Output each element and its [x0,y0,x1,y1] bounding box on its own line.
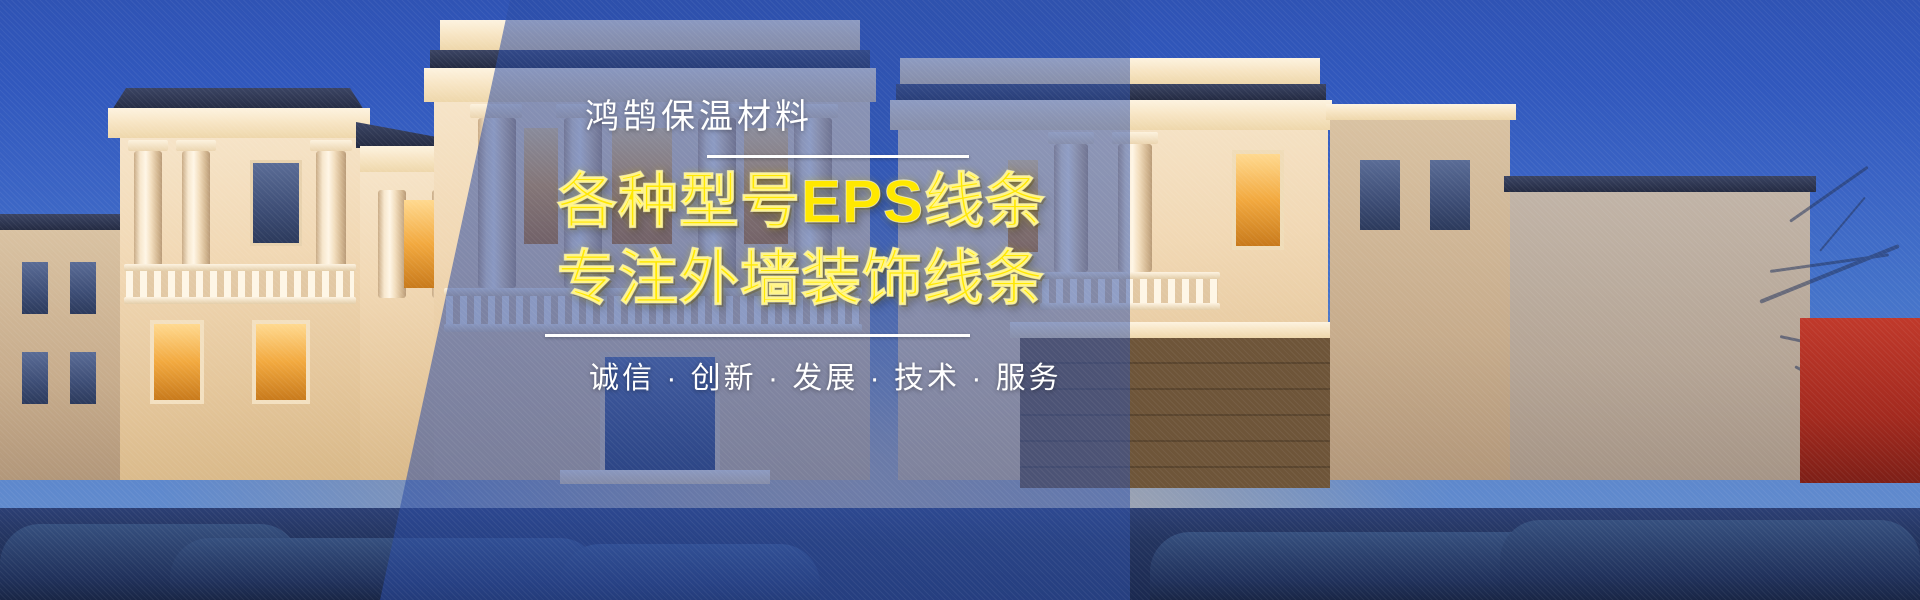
divider-bottom [545,334,970,337]
hedge-far-right [1500,520,1920,600]
headline-line-1: 各种型号EPS线条 [557,168,1115,235]
red-container [1800,318,1920,483]
hero-banner: 鸿鹄保温材料 各种型号EPS线条 专注外墙装饰线条 诚信 · 创新 · 发展 ·… [0,0,1920,600]
headline-line-2: 专注外墙装饰线条 [557,245,1115,312]
brand-name: 鸿鹄保温材料 [585,96,1115,139]
tagline: 诚信 · 创新 · 发展 · 技术 · 服务 [589,353,1115,397]
divider-top [707,155,969,158]
banner-content: 鸿鹄保温材料 各种型号EPS线条 专注外墙装饰线条 诚信 · 创新 · 发展 ·… [555,96,1115,397]
